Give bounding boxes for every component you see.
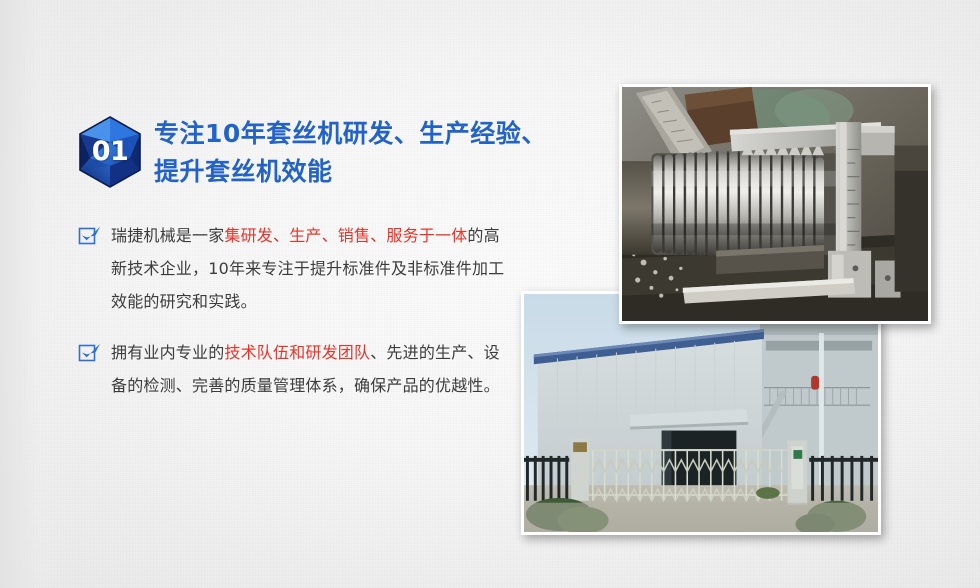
checkbox-check-icon xyxy=(78,224,102,248)
list-item-text: 瑞捷机械是一家集研发、生产、销售、服务于一体的高新技术企业，10年来专注于提升标… xyxy=(111,219,511,318)
threaded-pipe-image xyxy=(622,87,928,321)
headline-line-1: 专注10年套丝机研发、生产经验、 xyxy=(154,115,547,153)
content-column: 01 专注10年套丝机研发、生产经验、 提升套丝机效能 瑞捷机械是一家集研发、生… xyxy=(78,112,526,420)
list-item: 瑞捷机械是一家集研发、生产、销售、服务于一体的高新技术企业，10年来专注于提升标… xyxy=(78,219,526,318)
bullet-1-seg-1: 瑞捷机械是一家 xyxy=(111,226,224,245)
headline: 专注10年套丝机研发、生产经验、 提升套丝机效能 xyxy=(154,112,547,191)
promo-banner: 01 专注10年套丝机研发、生产经验、 提升套丝机效能 瑞捷机械是一家集研发、生… xyxy=(0,0,980,588)
list-item: 拥有业内专业的技术队伍和研发团队、先进的生产、设备的检测、完善的质量管理体系，确… xyxy=(78,336,526,402)
bullet-1-seg-2: 集研发、生产、销售、服务于一体 xyxy=(224,226,467,245)
headline-row: 01 专注10年套丝机研发、生产经验、 提升套丝机效能 xyxy=(78,112,526,191)
bullet-2-seg-1: 拥有业内专业的 xyxy=(111,343,224,362)
factory-building-image xyxy=(524,294,878,532)
photo-threaded-pipe-caliper xyxy=(619,84,931,324)
photo-factory-building xyxy=(521,291,881,535)
section-number-badge: 01 xyxy=(78,116,142,188)
section-number-label: 01 xyxy=(78,136,142,167)
bullet-list: 瑞捷机械是一家集研发、生产、销售、服务于一体的高新技术企业，10年来专注于提升标… xyxy=(78,219,526,402)
bullet-2-seg-2: 技术队伍和研发团队 xyxy=(224,343,370,362)
checkbox-check-icon xyxy=(78,341,102,365)
headline-line-2: 提升套丝机效能 xyxy=(154,153,547,191)
list-item-text: 拥有业内专业的技术队伍和研发团队、先进的生产、设备的检测、完善的质量管理体系，确… xyxy=(111,336,511,402)
